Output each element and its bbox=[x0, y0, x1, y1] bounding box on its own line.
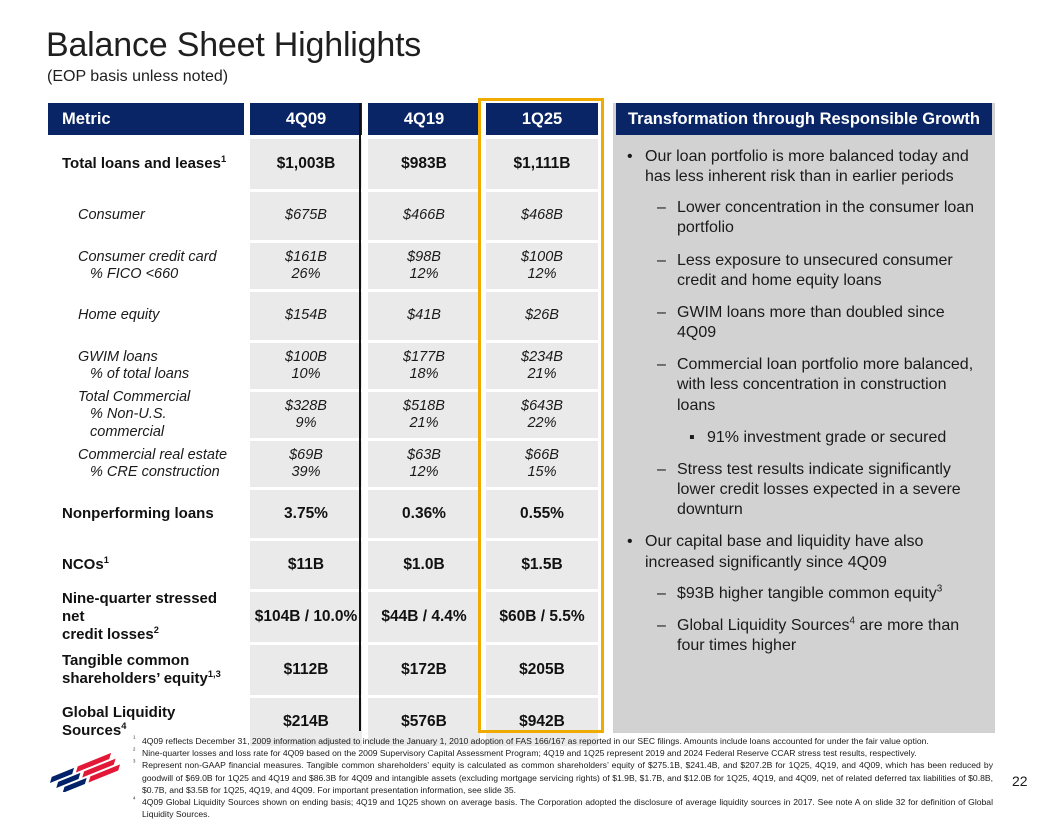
table-row: Total Commercial% Non-U.S. commercial$32… bbox=[48, 392, 604, 438]
row-label: Nine-quarter stressed netcredit losses2 bbox=[48, 592, 244, 642]
row-label: Commercial real estate% CRE construction bbox=[48, 441, 244, 487]
table-cell: 0.36% bbox=[368, 490, 480, 538]
column-header-1q25: 1Q25 bbox=[486, 103, 598, 135]
bullet-item-l2: –Stress test results indicate significan… bbox=[623, 460, 981, 520]
table-cell: $63B12% bbox=[368, 441, 480, 487]
footnote: 44Q09 Global Liquidity Sources shown on … bbox=[133, 796, 993, 820]
row-label: Tangible commonshareholders’ equity1,3 bbox=[48, 645, 244, 695]
table-cell: $69B39% bbox=[250, 441, 362, 487]
table-cell: $100B10% bbox=[250, 343, 362, 389]
table-row: Nine-quarter stressed netcredit losses2$… bbox=[48, 592, 604, 642]
table-row: Consumer credit card% FICO <660$161B26%$… bbox=[48, 243, 604, 289]
footnote: 2Nine-quarter losses and loss rate for 4… bbox=[133, 747, 993, 759]
table-cell: $11B bbox=[250, 541, 362, 589]
table-cell: $1,003B bbox=[250, 139, 362, 189]
bank-of-america-logo bbox=[46, 750, 124, 792]
row-label: Total Commercial% Non-U.S. commercial bbox=[48, 392, 244, 438]
bullet-marker: – bbox=[657, 584, 677, 604]
footnote: 14Q09 reflects December 31, 2009 informa… bbox=[133, 735, 993, 747]
row-label: Consumer credit card% FICO <660 bbox=[48, 243, 244, 289]
bullet-marker: • bbox=[627, 532, 645, 572]
bullet-marker: – bbox=[657, 355, 677, 415]
page-subtitle: (EOP basis unless noted) bbox=[47, 68, 228, 86]
table-cell: $26B bbox=[486, 292, 598, 340]
footnote-text: Nine-quarter losses and loss rate for 4Q… bbox=[142, 747, 993, 759]
bullet-item-l2: –Lower concentration in the consumer loa… bbox=[623, 198, 981, 238]
bullet-marker: – bbox=[657, 303, 677, 343]
table-row: NCOs1$11B$1.0B$1.5B bbox=[48, 541, 604, 589]
bullet-text: Less exposure to unsecured consumer cred… bbox=[677, 251, 981, 291]
table-cell: $172B bbox=[368, 645, 480, 695]
page-number: 22 bbox=[1012, 773, 1028, 789]
table-cell: $161B26% bbox=[250, 243, 362, 289]
table-cell: $44B / 4.4% bbox=[368, 592, 480, 642]
row-label: Consumer bbox=[48, 192, 244, 240]
column-header-4q09: 4Q09 bbox=[250, 103, 362, 135]
footnote-text: 4Q09 Global Liquidity Sources shown on e… bbox=[142, 796, 993, 820]
bullet-marker: – bbox=[657, 251, 677, 291]
table-cell: $205B bbox=[486, 645, 598, 695]
footnote-text: 4Q09 reflects December 31, 2009 informat… bbox=[142, 735, 993, 747]
bullet-text: Stress test results indicate significant… bbox=[677, 460, 981, 520]
table-row: Home equity$154B$41B$26B bbox=[48, 292, 604, 340]
bullet-item-l2: –GWIM loans more than doubled since 4Q09 bbox=[623, 303, 981, 343]
table-cell: $100B12% bbox=[486, 243, 598, 289]
bullet-marker: ▪ bbox=[689, 428, 707, 448]
bullet-text: Our capital base and liquidity have also… bbox=[645, 532, 981, 572]
bullet-item-l1: •Our loan portfolio is more balanced tod… bbox=[623, 147, 981, 187]
table-row: GWIM loans% of total loans$100B10%$177B1… bbox=[48, 343, 604, 389]
row-label: NCOs1 bbox=[48, 541, 244, 589]
table-cell: 3.75% bbox=[250, 490, 362, 538]
table-row: Total loans and leases1$1,003B$983B$1,11… bbox=[48, 139, 604, 189]
commentary-panel: Transformation through Responsible Growt… bbox=[613, 103, 995, 733]
bullet-text: Commercial loan portfolio more balanced,… bbox=[677, 355, 981, 415]
table-cell: $177B18% bbox=[368, 343, 480, 389]
bullet-item-l3: ▪91% investment grade or secured bbox=[623, 428, 981, 448]
table-row: Commercial real estate% CRE construction… bbox=[48, 441, 604, 487]
table-cell: $518B21% bbox=[368, 392, 480, 438]
bullet-text: Lower concentration in the consumer loan… bbox=[677, 198, 981, 238]
table-row: Consumer$675B$466B$468B bbox=[48, 192, 604, 240]
column-divider bbox=[359, 103, 361, 731]
table-cell: $468B bbox=[486, 192, 598, 240]
table-cell: $983B bbox=[368, 139, 480, 189]
bullet-text: Global Liquidity Sources4 are more than … bbox=[677, 616, 981, 656]
metrics-table: Metric 4Q09 4Q19 1Q25 Total loans and le… bbox=[48, 103, 604, 749]
footnote: 3Represent non-GAAP financial measures. … bbox=[133, 759, 993, 796]
footnote-number: 4 bbox=[133, 796, 142, 820]
table-cell: $41B bbox=[368, 292, 480, 340]
footnote-number: 2 bbox=[133, 747, 142, 759]
table-cell: 0.55% bbox=[486, 490, 598, 538]
column-header-metric: Metric bbox=[48, 103, 244, 135]
table-cell: $1,111B bbox=[486, 139, 598, 189]
bullet-marker: • bbox=[627, 147, 645, 187]
footnote-number: 1 bbox=[133, 735, 142, 747]
footnotes: 14Q09 reflects December 31, 2009 informa… bbox=[133, 735, 993, 820]
table-cell: $60B / 5.5% bbox=[486, 592, 598, 642]
table-cell: $104B / 10.0% bbox=[250, 592, 362, 642]
table-cell: $675B bbox=[250, 192, 362, 240]
bullet-text: $93B higher tangible common equity3 bbox=[677, 584, 981, 604]
table-cell: $154B bbox=[250, 292, 362, 340]
bullet-text: 91% investment grade or secured bbox=[707, 428, 981, 448]
table-row: Nonperforming loans3.75%0.36%0.55% bbox=[48, 490, 604, 538]
table-cell: $1.0B bbox=[368, 541, 480, 589]
bullet-item-l2: –$93B higher tangible common equity3 bbox=[623, 584, 981, 604]
table-cell: $234B21% bbox=[486, 343, 598, 389]
column-header-4q19: 4Q19 bbox=[368, 103, 480, 135]
bullet-item-l2: –Commercial loan portfolio more balanced… bbox=[623, 355, 981, 415]
bullet-marker: – bbox=[657, 460, 677, 520]
footnote-text: Represent non-GAAP financial measures. T… bbox=[142, 759, 993, 796]
bullet-item-l2: –Less exposure to unsecured consumer cre… bbox=[623, 251, 981, 291]
bullet-marker: – bbox=[657, 198, 677, 238]
table-cell: $112B bbox=[250, 645, 362, 695]
commentary-panel-title: Transformation through Responsible Growt… bbox=[616, 103, 992, 135]
table-cell: $328B9% bbox=[250, 392, 362, 438]
page-title: Balance Sheet Highlights bbox=[46, 26, 421, 65]
bullet-text: Our loan portfolio is more balanced toda… bbox=[645, 147, 981, 187]
table-cell: $1.5B bbox=[486, 541, 598, 589]
bullet-item-l1: •Our capital base and liquidity have als… bbox=[623, 532, 981, 572]
table-header-row: Metric 4Q09 4Q19 1Q25 bbox=[48, 103, 604, 135]
row-label: Home equity bbox=[48, 292, 244, 340]
commentary-bullet-list: •Our loan portfolio is more balanced tod… bbox=[613, 135, 995, 656]
row-label: Nonperforming loans bbox=[48, 490, 244, 538]
bullet-text: GWIM loans more than doubled since 4Q09 bbox=[677, 303, 981, 343]
row-label: GWIM loans% of total loans bbox=[48, 343, 244, 389]
table-body: Total loans and leases1$1,003B$983B$1,11… bbox=[48, 139, 604, 746]
bullet-marker: – bbox=[657, 616, 677, 656]
bullet-item-l2: –Global Liquidity Sources4 are more than… bbox=[623, 616, 981, 656]
table-cell: $66B15% bbox=[486, 441, 598, 487]
row-label: Total loans and leases1 bbox=[48, 139, 244, 189]
table-cell: $98B12% bbox=[368, 243, 480, 289]
footnote-number: 3 bbox=[133, 759, 142, 796]
table-cell: $643B22% bbox=[486, 392, 598, 438]
table-cell: $466B bbox=[368, 192, 480, 240]
table-row: Tangible commonshareholders’ equity1,3$1… bbox=[48, 645, 604, 695]
